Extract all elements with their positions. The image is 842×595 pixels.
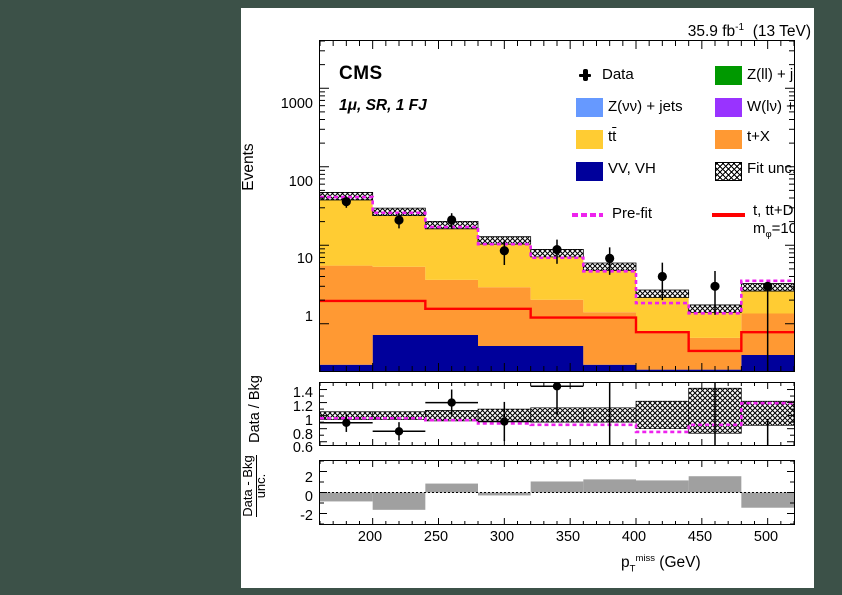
legend-label-vvvh: VV, VH: [608, 160, 656, 177]
legend-swatch-tx: [715, 130, 742, 149]
xtick-500: 500: [741, 529, 791, 545]
xtick-200: 200: [345, 529, 395, 545]
legend-swatch-wlnu: [715, 98, 742, 117]
legend-swatch-fitunc: [715, 162, 742, 181]
legend-swatch-zll: [715, 66, 742, 85]
legend-swatch-ttbar: [576, 130, 603, 149]
main-y-axis-title: Events: [240, 37, 258, 297]
legend-label-signal: t, tt+DM, mφ=100 GeV: [753, 202, 795, 240]
legend-swatch-vvvh: [576, 162, 603, 181]
legend-label-wlnu: W(lν) + jets: [747, 98, 795, 115]
main-ytick-1: 1: [259, 309, 313, 325]
x-axis-title: pTmiss (GeV): [621, 553, 701, 574]
legend-line-prefit: [572, 213, 602, 217]
legend-label-zll: Z(ll) + jets: [747, 66, 795, 83]
pull-histogram: [320, 461, 794, 524]
main-ytick-100: 100: [259, 174, 313, 190]
legend-label-znunu: Z(νν) + jets: [608, 98, 683, 115]
main-ytick-1000: 1000: [259, 96, 313, 112]
pull-ytick-m2: -2: [267, 508, 313, 524]
cms-logo-text: CMS: [339, 63, 383, 85]
category-label: 1μ, SR, 1 FJ: [339, 97, 427, 115]
legend-marker-data: [579, 69, 591, 81]
legend-swatch-znunu: [576, 98, 603, 117]
xtick-400: 400: [609, 529, 659, 545]
ratio-ytick-0p6: 0.6: [263, 440, 313, 456]
pull-plot-frame: [319, 460, 795, 525]
plot-canvas: 35.9 fb-1 (13 TeV) Events Data / Bkg (Da…: [241, 8, 814, 588]
xtick-250: 250: [411, 529, 461, 545]
main-histogram: [320, 41, 794, 371]
legend-label-data: Data: [602, 66, 634, 83]
legend-label-tx: t+X: [747, 128, 770, 145]
legend-label-ttbar: tt: [608, 128, 616, 145]
main-ytick-10: 10: [259, 251, 313, 267]
legend-line-signal: [712, 213, 745, 217]
lumi-energy-label: 35.9 fb-1 (13 TeV): [661, 22, 811, 41]
xtick-450: 450: [675, 529, 725, 545]
pull-ytick-0: 0: [267, 489, 313, 505]
ratio-plot-frame: [319, 382, 795, 446]
legend-label-fitunc: Fit unc.: [747, 160, 795, 177]
legend-label-prefit: Pre-fit: [612, 205, 652, 222]
ratio-histogram: [320, 383, 794, 445]
xtick-300: 300: [477, 529, 527, 545]
pull-ytick-2: 2: [267, 470, 313, 486]
main-plot-frame: CMS 1μ, SR, 1 FJ Data Z(ll) + jets Z(νν)…: [319, 40, 795, 372]
xtick-350: 350: [543, 529, 593, 545]
